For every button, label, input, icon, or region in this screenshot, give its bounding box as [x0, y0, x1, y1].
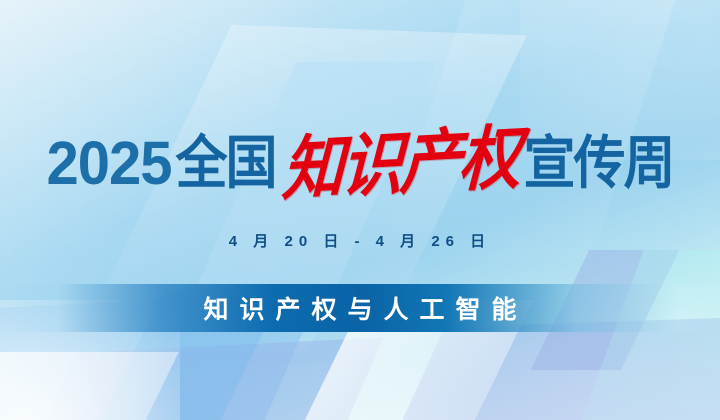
- headline: 2025 全国 知识产权 宣传周: [0, 128, 720, 200]
- headline-publicity-week: 宣传周: [524, 135, 674, 192]
- subtitle-strip: 知识产权与人工智能: [0, 284, 720, 332]
- headline-year: 2025: [46, 133, 171, 194]
- headline-calligraphy-ip: 知识产权: [280, 123, 519, 205]
- ip-week-banner: 2025 全国 知识产权 宣传周 4 月 20 日 - 4 月 26 日 知识产…: [0, 0, 720, 420]
- headline-nationwide: 全国: [175, 135, 275, 192]
- subtitle-text: 知识产权与人工智能: [192, 290, 527, 326]
- banner-content: 2025 全国 知识产权 宣传周 4 月 20 日 - 4 月 26 日 知识产…: [0, 0, 720, 420]
- date-range: 4 月 20 日 - 4 月 26 日: [0, 230, 720, 251]
